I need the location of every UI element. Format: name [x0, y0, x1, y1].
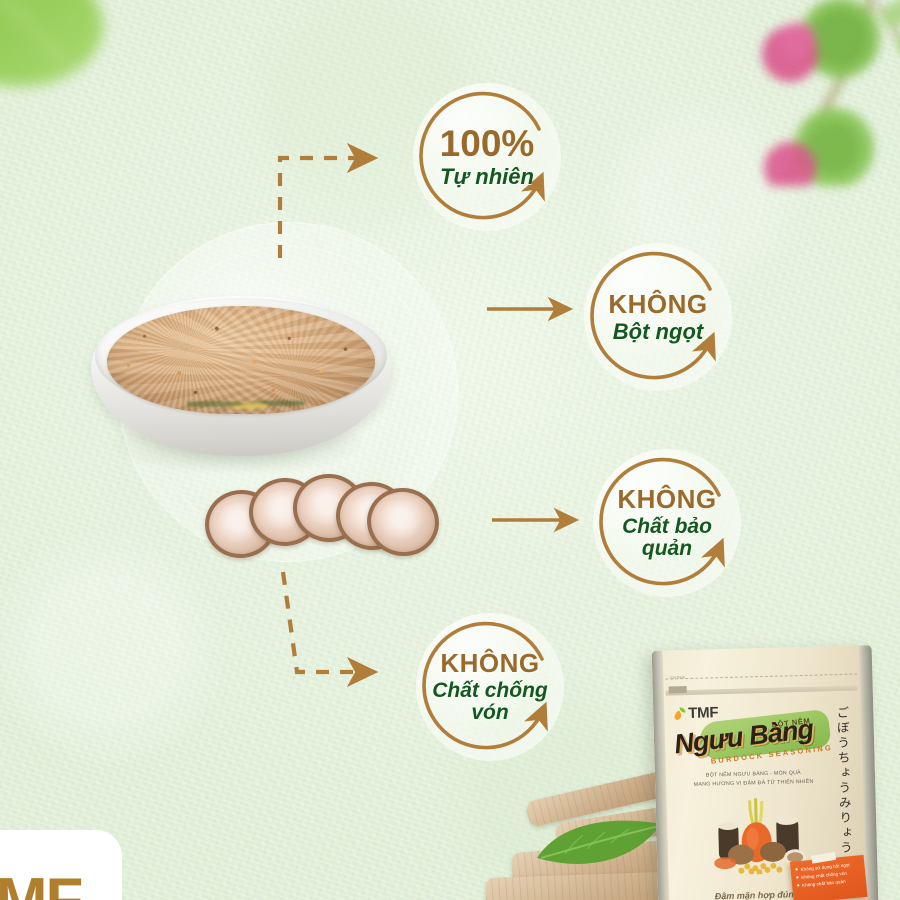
- package-body: Cut here TMF BỘT NÊM Ngưu Bàng BURDOCK S…: [652, 645, 879, 900]
- badge-text: 100% Tự nhiên: [407, 77, 567, 237]
- badge-title: KHÔNG: [440, 650, 539, 677]
- badge-text: KHÔNG Chất bảo quản: [587, 443, 747, 603]
- badge-text: KHÔNG Chất chống vón: [410, 607, 570, 767]
- package-claims-sticker: Không sử dụng bột ngọt Không chất chống …: [790, 855, 868, 900]
- badge-subtitle: Chất bảo quản: [605, 516, 729, 560]
- package-zip-strip: [666, 686, 858, 696]
- footer-brand-panel: TMF: [0, 830, 122, 900]
- bowl-of-seasoning: [85, 292, 397, 482]
- badge-subtitle: Chất chống vón: [422, 680, 558, 724]
- badge-no-anticaking[interactable]: KHÔNG Chất chống vón: [410, 607, 570, 767]
- badge-subtitle: Tự nhiên: [440, 166, 534, 189]
- footer-brand-text: TMF: [0, 865, 81, 900]
- powder-herb-bits: [187, 396, 305, 412]
- badge-subtitle: Bột ngọt: [613, 321, 703, 344]
- seasoning-powder: [107, 306, 375, 414]
- package-description: BỘT NÊM NGƯU BÀNG - MÓN QUÀ MANG HƯƠNG V…: [681, 768, 826, 789]
- poster-canvas: 100% Tự nhiên KHÔNG Bột ngọt: [0, 0, 900, 900]
- package-zip-dashed: [665, 674, 857, 680]
- badge-title: 100%: [440, 125, 535, 163]
- burdock-root-slices: [205, 470, 440, 560]
- sticker-claims-list: Không sử dụng bột ngọt Không chất chống …: [795, 860, 862, 891]
- burdock-flower-icon: [728, 0, 900, 186]
- badge-no-preservative[interactable]: KHÔNG Chất bảo quản: [587, 443, 747, 603]
- package-notch: [669, 686, 687, 693]
- leaf-icon: [535, 818, 665, 876]
- package-brand-block: BỘT NÊM Ngưu Bàng BURDOCK SEASONING: [667, 714, 836, 766]
- badge-no-msg[interactable]: KHÔNG Bột ngọt: [578, 237, 738, 397]
- badge-natural[interactable]: 100% Tự nhiên: [407, 77, 567, 237]
- product-package[interactable]: Cut here TMF BỘT NÊM Ngưu Bàng BURDOCK S…: [652, 645, 879, 900]
- badge-title: KHÔNG: [617, 486, 716, 513]
- package-japanese-text: ごぼうちょうみりょう: [832, 706, 855, 856]
- badge-title: KHÔNG: [608, 291, 707, 318]
- badge-text: KHÔNG Bột ngọt: [578, 237, 738, 397]
- leaf-icon: [0, 0, 142, 118]
